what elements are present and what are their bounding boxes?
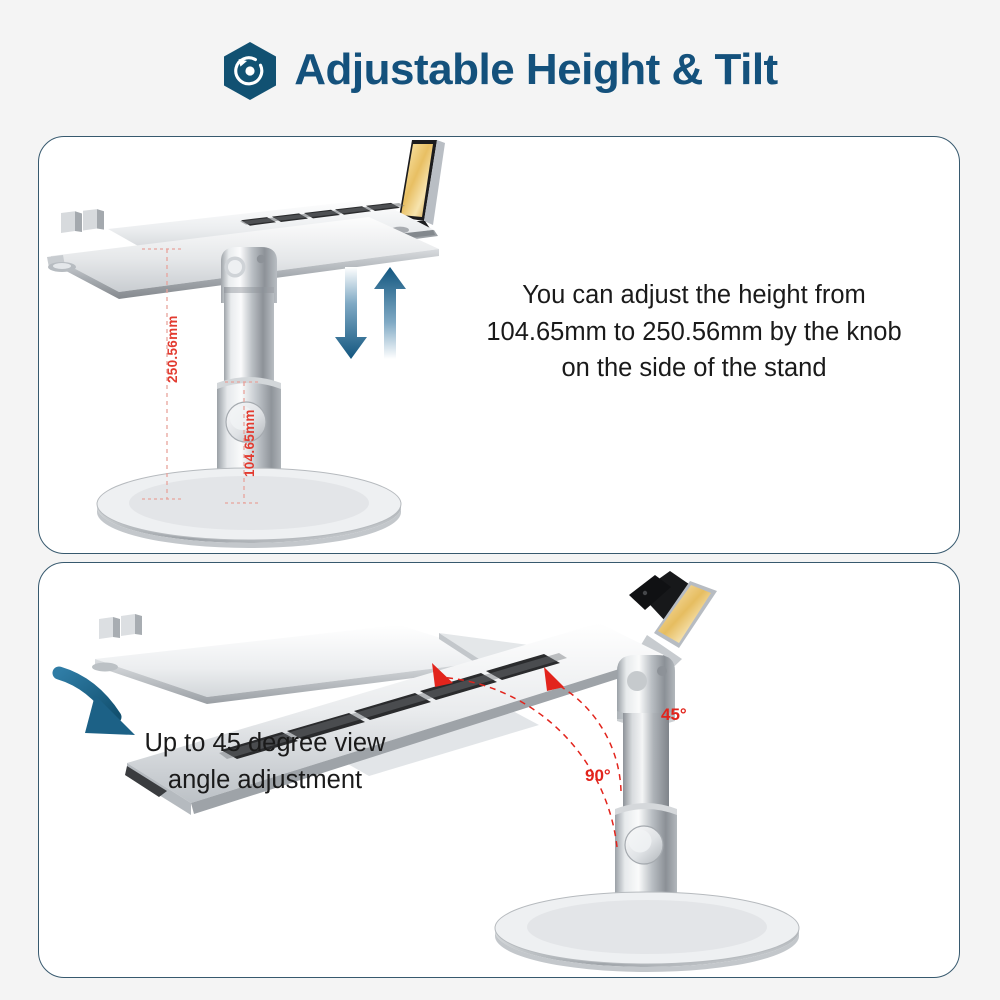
page-header: Adjustable Height & Tilt	[0, 34, 1000, 106]
page-title: Adjustable Height & Tilt	[294, 48, 777, 92]
angle-label-45: 45°	[661, 705, 687, 725]
round-base	[97, 468, 401, 548]
height-panel: 250.56mm 104.65mm You can adjust the hei…	[38, 136, 960, 554]
height-description: You can adjust the height from 104.65mm …	[453, 277, 935, 387]
infographic-page: Adjustable Height & Tilt	[0, 0, 1000, 1000]
height-arrows	[335, 267, 406, 359]
arrow-up-icon	[374, 267, 406, 359]
round-base	[495, 892, 799, 972]
dimension-label-short: 104.65mm	[242, 409, 257, 477]
tilt-panel: 45° 90° Up to 45 degree view angle adjus…	[38, 562, 960, 978]
dimension-label-tall: 250.56mm	[165, 315, 180, 383]
arrow-down-icon	[335, 267, 367, 359]
rotation-adjust-hex-icon	[222, 41, 278, 101]
tilt-description: Up to 45 degree view angle adjustment	[75, 725, 455, 798]
angle-label-90: 90°	[585, 766, 611, 786]
tray-clamp-tabs	[61, 209, 104, 233]
